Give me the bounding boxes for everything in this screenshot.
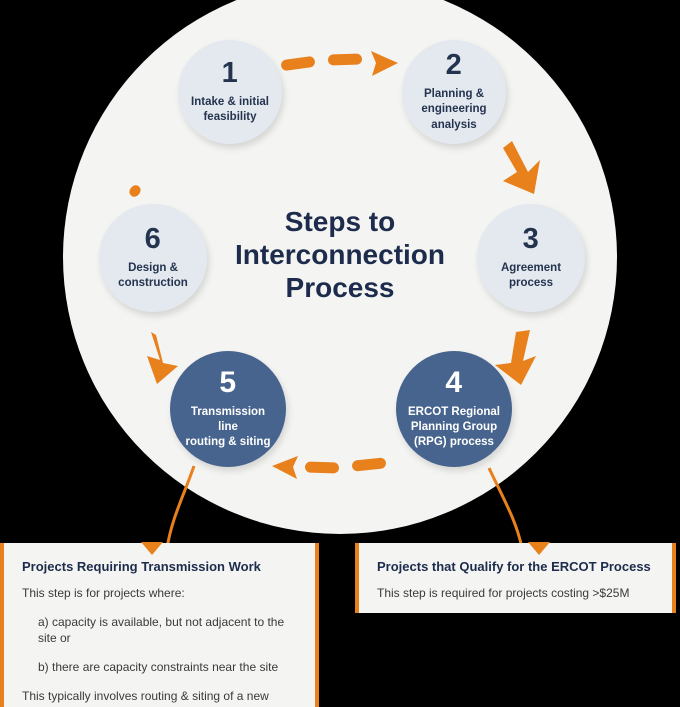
- interconnection-process-diagram: 1 Intake & initial feasibility 2 Plannin…: [0, 0, 680, 707]
- step-circle-1[interactable]: 1 Intake & initial feasibility: [178, 40, 282, 144]
- step-circle-6[interactable]: 6 Design & construction: [99, 204, 207, 312]
- step-label: Design & construction: [108, 261, 198, 291]
- callout-line: This step is for projects where:: [22, 585, 299, 602]
- step-number: 3: [523, 225, 540, 254]
- step-number: 4: [445, 368, 462, 398]
- callout-title: Projects Requiring Transmission Work: [22, 559, 299, 574]
- step-circle-5[interactable]: 5 Transmission line routing & siting: [170, 351, 286, 467]
- step-number: 6: [145, 225, 162, 254]
- step-circle-4[interactable]: 4 ERCOT Regional Planning Group (RPG) pr…: [396, 351, 512, 467]
- callout-pointer-icon: [528, 542, 550, 555]
- callout-title: Projects that Qualify for the ERCOT Proc…: [377, 559, 656, 574]
- diagram-title: Steps to Interconnection Process: [222, 205, 458, 304]
- step-circle-3[interactable]: 3 Agreement process: [477, 204, 585, 312]
- step-label: ERCOT Regional Planning Group (RPG) proc…: [398, 405, 510, 451]
- step-label: Transmission line routing & siting: [170, 405, 286, 451]
- callout-line: a) capacity is available, but not adjace…: [38, 614, 299, 647]
- step-label: Planning & engineering analysis: [411, 87, 496, 133]
- callout-transmission-work: Projects Requiring Transmission Work Thi…: [0, 543, 319, 707]
- step-number: 1: [222, 59, 239, 88]
- callout-ercot-process: Projects that Qualify for the ERCOT Proc…: [355, 543, 676, 613]
- step-number: 5: [219, 368, 236, 398]
- step-number: 2: [446, 51, 463, 80]
- step-label: Intake & initial feasibility: [181, 95, 279, 125]
- step-circle-2[interactable]: 2 Planning & engineering analysis: [402, 40, 506, 144]
- callout-pointer-icon: [141, 542, 163, 555]
- callout-line: This typically involves routing & siting…: [22, 688, 299, 707]
- callout-line: This step is required for projects costi…: [377, 585, 656, 602]
- step-label: Agreement process: [491, 261, 571, 291]
- callout-line: b) there are capacity constraints near t…: [38, 659, 299, 676]
